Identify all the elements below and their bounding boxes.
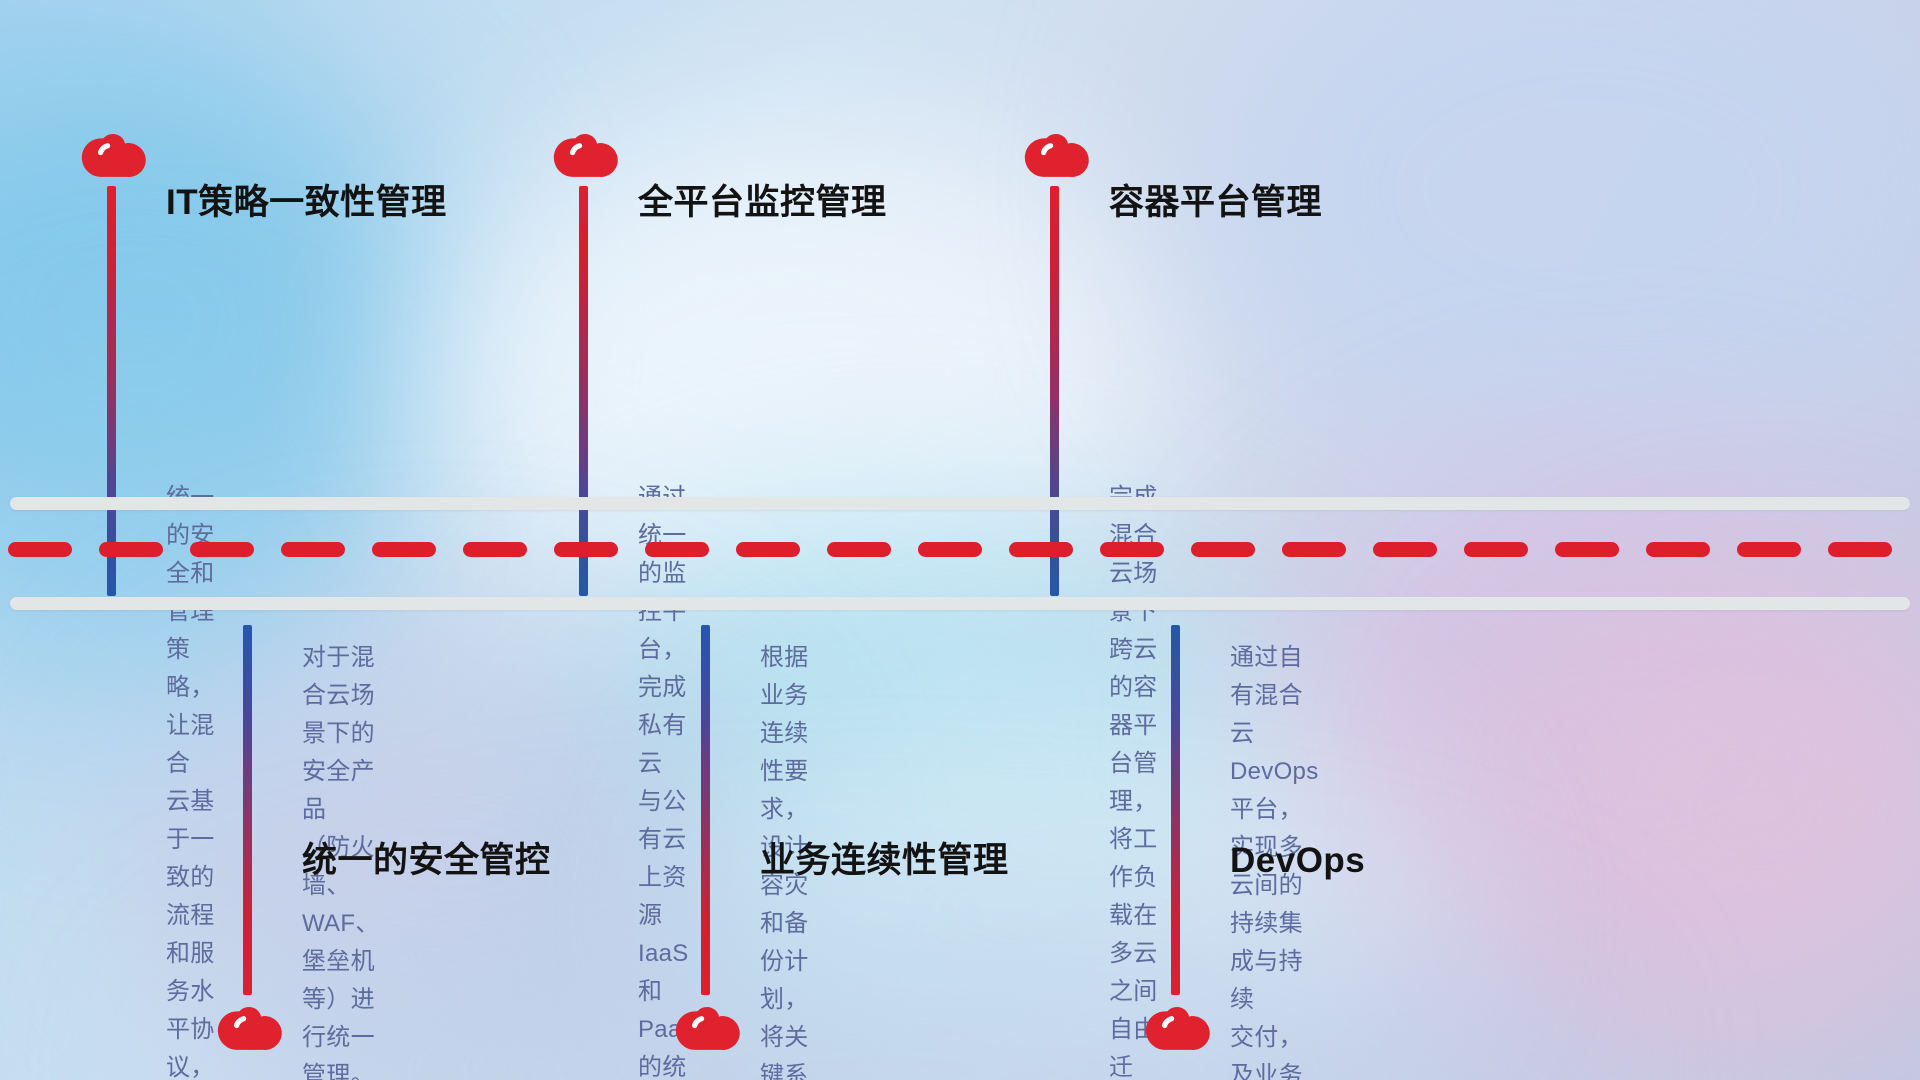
timeline-stem (579, 186, 588, 596)
divider-dash (1373, 542, 1437, 557)
item-description: 完成混合云场景下跨云的容器平 台管理，将工作负载在多云之间 自由迁移。 (1109, 479, 1158, 1080)
divider-dash (1737, 542, 1801, 557)
divider-dash (645, 542, 709, 557)
divider-dash (281, 542, 345, 557)
divider-line-dashed (8, 542, 1916, 557)
item-heading: 容器平台管理 (1109, 185, 1322, 220)
divider-dash (1009, 542, 1073, 557)
divider-dash (1646, 542, 1710, 557)
divider-dash (8, 542, 72, 557)
divider-dash (1282, 542, 1346, 557)
divider-dash (1100, 542, 1164, 557)
cloud-icon (674, 1005, 746, 1061)
item-heading: 全平台监控管理 (638, 185, 887, 220)
item-heading: DevOps (1230, 843, 1365, 878)
item-heading: IT策略一致性管理 (166, 185, 447, 220)
item-description: 通过统一的监控平台，完成私有云 与公有云上资源IaaS和PaaS的统 一监控；开… (638, 479, 698, 1080)
cloud-icon (552, 132, 624, 188)
timeline-stem (107, 186, 116, 596)
divider-dash (372, 542, 436, 557)
cloud-icon (1144, 1005, 1216, 1061)
divider-dash (1191, 542, 1255, 557)
divider-dash (827, 542, 891, 557)
timeline-stem (243, 625, 252, 995)
timeline-stem (1171, 625, 1180, 995)
divider-dash (463, 542, 527, 557)
cloud-icon (216, 1005, 288, 1061)
divider-dash (1828, 542, 1892, 557)
cloud-icon (80, 132, 152, 188)
divider-dash (736, 542, 800, 557)
divider-dash (1555, 542, 1619, 557)
infographic-canvas: IT策略一致性管理 统一的安全和管理策略，让混合 云基于一致的流程和服务水平协 … (0, 0, 1920, 1080)
timeline-stem (701, 625, 710, 995)
item-heading: 统一的安全管控 (302, 843, 551, 878)
timeline-stem (1050, 186, 1059, 596)
cloud-icon (1023, 132, 1095, 188)
divider-dash (99, 542, 163, 557)
divider-dash (554, 542, 618, 557)
item-heading: 业务连续性管理 (760, 843, 1009, 878)
divider-line-top (10, 497, 1910, 510)
divider-dash (918, 542, 982, 557)
divider-line-bottom (10, 597, 1910, 610)
divider-dash (1464, 542, 1528, 557)
item-description: 统一的安全和管理策略，让混合 云基于一致的流程和服务水平协 议，对业务提供支持。 (166, 479, 215, 1080)
divider-dash (190, 542, 254, 557)
